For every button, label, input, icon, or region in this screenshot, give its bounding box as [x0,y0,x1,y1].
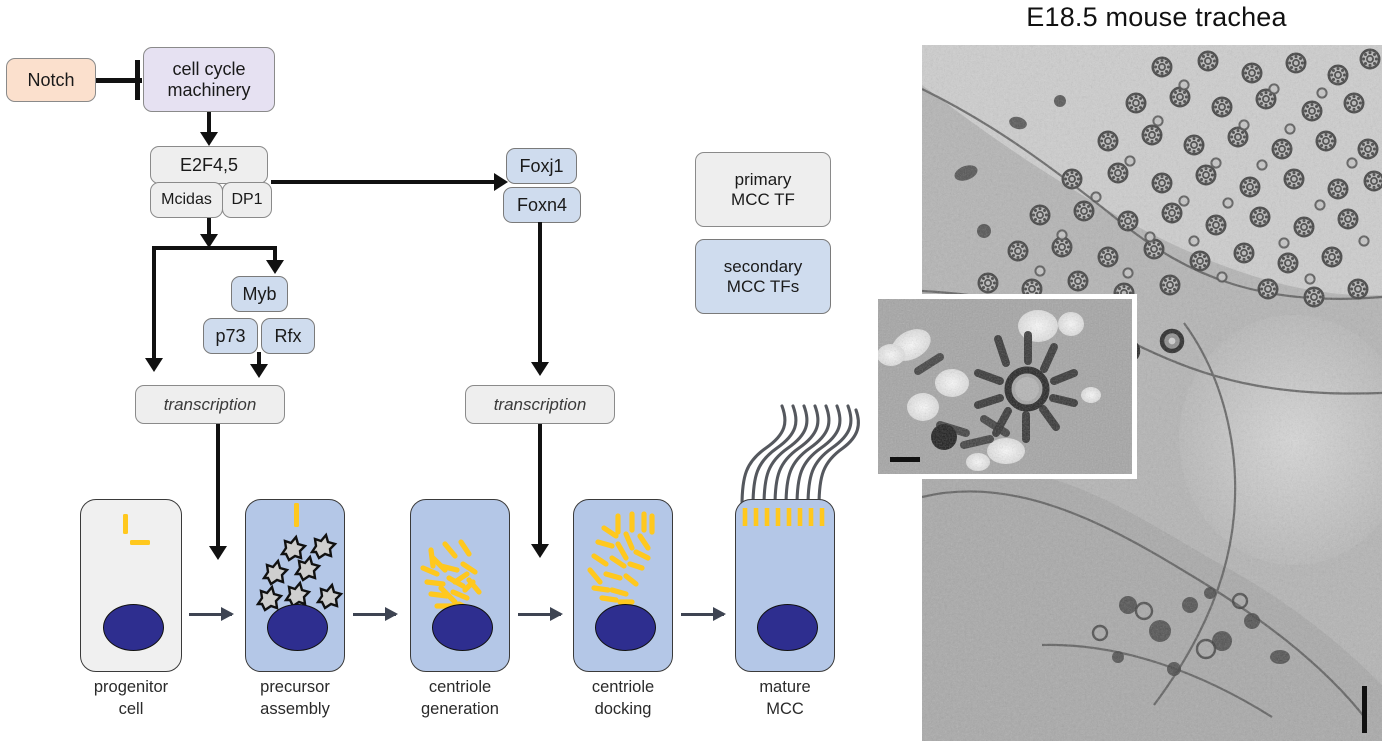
notch-inhibition-tbar [135,60,140,100]
legend-primary-line-2: MCC TF [731,190,795,209]
micrograph-title: E18.5 mouse trachea [922,2,1391,33]
stage-arrow-4 [681,613,724,616]
stage-label-precursor-line1: precursor [224,676,366,698]
node-rfx-label: Rfx [275,326,302,346]
stage-label-centriole-generation: centriole generation [389,676,531,721]
arrow-transcription-left-down-head [209,546,227,560]
stage-arrow-2 [353,613,396,616]
stage-label-mature-mcc-line1: mature [714,676,856,698]
node-foxj1: Foxj1 [506,148,577,184]
arrow-transcription-right-down-shaft [538,424,542,548]
basal-bodies-row [736,505,835,531]
legend-secondary-line-1: secondary [724,257,802,276]
stage-label-progenitor-line1: progenitor [60,676,202,698]
node-mcidas: Mcidas [150,182,223,218]
arrow-foxn4-down-head [531,362,549,376]
arrow-e2f-to-fox-shaft [271,180,496,184]
node-e2f45: E2F4,5 [150,146,268,184]
legend-primary-line-1: primary [735,170,792,189]
nucleus [757,604,818,651]
branch-left-shaft [152,246,156,362]
node-notch-label: Notch [27,70,74,90]
deuterosome-inset [873,294,1137,479]
node-transcription-right: transcription [465,385,615,424]
nucleus [103,604,164,651]
cell-progenitor [80,499,182,672]
cell-mature-mcc [735,499,835,672]
stage-arrow-1 [189,613,232,616]
cell-cycle-line-1: cell cycle [172,59,245,79]
node-myb-label: Myb [242,284,276,304]
arrow-transcription-left-down-shaft [216,424,220,550]
stage-label-mature-mcc: mature MCC [714,676,856,721]
node-mcidas-label: Mcidas [161,191,212,209]
legend-primary-mcc-tf: primary MCC TF [695,152,831,227]
stage-label-centriole-docking: centriole docking [552,676,694,721]
cilia-bundle [732,396,862,508]
cell-centriole-docking [573,499,673,672]
stage-label-precursor: precursor assembly [224,676,366,721]
cell-centriole-generation [410,499,510,672]
node-p73-label: p73 [215,326,245,346]
node-dp1-label: DP1 [231,191,262,209]
nucleus [595,604,656,651]
node-transcription-left: transcription [135,385,285,424]
branch-left-head [145,358,163,372]
node-foxn4: Foxn4 [503,187,581,223]
stage-label-centriole-generation-line2: generation [389,698,531,720]
stage-label-precursor-line2: assembly [224,698,366,720]
stage-label-mature-mcc-line2: MCC [714,698,856,720]
stage-label-progenitor: progenitor cell [60,676,202,721]
node-transcription-left-label: transcription [164,395,257,414]
cell-precursor [245,499,345,672]
legend-secondary-line-2: MCC TFs [727,277,799,296]
arrow-cellcycle-to-e2f-head [200,132,218,146]
arrow-tf-to-transcription-head [250,364,268,378]
nucleus [267,604,328,651]
node-p73: p73 [203,318,258,354]
node-foxn4-label: Foxn4 [517,195,567,215]
stage-label-centriole-generation-line1: centriole [389,676,531,698]
nucleus [432,604,493,651]
node-transcription-right-label: transcription [494,395,587,414]
node-dp1: DP1 [222,182,272,218]
micrograph-scale-bar [1362,686,1367,733]
arrow-foxn4-down-shaft [538,222,542,366]
centriole-mark-vertical [123,514,128,534]
node-notch: Notch [6,58,96,102]
figure-canvas: Notch cell cycle machinery E2F4,5 Mcidas… [0,0,1391,741]
node-e2f45-label: E2F4,5 [180,155,238,175]
centriole-mark-horizontal [130,540,150,545]
stage-label-centriole-docking-line1: centriole [552,676,694,698]
cell-cycle-line-2: machinery [167,80,250,100]
deuterosome-inset-content [878,299,1132,474]
node-rfx: Rfx [261,318,315,354]
branch-right-head [266,260,284,274]
node-foxj1-label: Foxj1 [519,156,563,176]
arrow-transcription-right-down-head [531,544,549,558]
branch-bar [152,246,277,250]
stage-arrow-3 [518,613,561,616]
stage-label-progenitor-line2: cell [60,698,202,720]
parent-centriole [294,503,299,527]
legend-secondary-mcc-tfs: secondary MCC TFs [695,239,831,314]
node-myb: Myb [231,276,288,312]
node-cell-cycle-machinery: cell cycle machinery [143,47,275,112]
stage-label-centriole-docking-line2: docking [552,698,694,720]
